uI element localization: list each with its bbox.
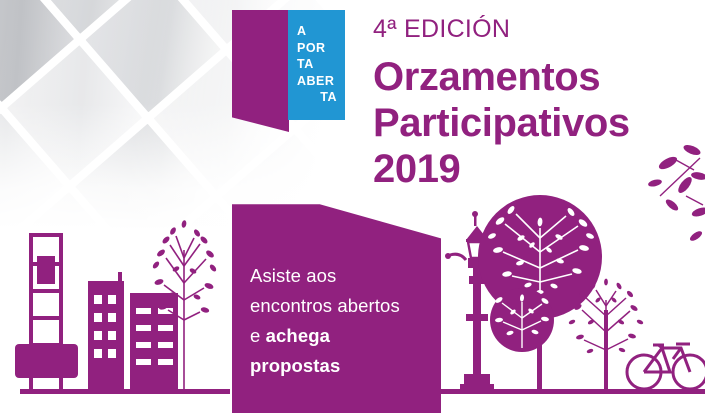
building-wide-icon: [130, 293, 178, 393]
floating-leaves-icon: [647, 143, 705, 243]
ground-line-left: [20, 389, 230, 394]
logo-line-2: POR: [297, 40, 338, 57]
round-tree-branches: [503, 214, 578, 300]
logo-line-1: A: [297, 23, 338, 40]
bush-leaves: [494, 294, 549, 336]
sapling-tree-icon: [568, 279, 644, 390]
cta-line-2: encontros abertos: [250, 291, 435, 321]
open-door-shape-icon: [232, 10, 289, 132]
logo-line-5: TA: [297, 89, 338, 106]
title-line-3: 2019: [373, 146, 630, 192]
building-tall-windows: [94, 295, 116, 358]
crane-icon: [15, 233, 78, 393]
floating-branch-lines: [660, 158, 703, 205]
title-line-2: Participativos: [373, 100, 630, 146]
title-line-1: Orzamentos: [373, 54, 630, 100]
round-tree-icon: [478, 195, 602, 390]
bare-tree-left-leaves: [152, 220, 218, 314]
headline-block: 4ª EDICIÓN Orzamentos Participativos 201…: [373, 14, 630, 192]
bush-branches: [502, 302, 542, 348]
building-wide-windows: [136, 308, 173, 365]
cta-line-4: propostas: [250, 351, 435, 381]
cta-line-3: e achega: [250, 321, 435, 351]
small-round-bush-icon: [490, 288, 554, 352]
logo-line-3: TA: [297, 56, 338, 73]
a-porta-aberta-logo[interactable]: A POR TA ABER TA: [232, 10, 345, 132]
bicycle-icon: [627, 344, 705, 389]
logo-line-4: ABER: [297, 73, 338, 90]
sapling-leaves: [568, 279, 644, 354]
page-title: Orzamentos Participativos 2019: [373, 54, 630, 192]
edition-label: 4ª EDICIÓN: [373, 14, 630, 44]
sapling-branches: [582, 290, 630, 390]
round-tree-leaves: [487, 205, 595, 294]
street-lamp-icon: [445, 211, 509, 392]
logo-wordmark: A POR TA ABER TA: [288, 10, 345, 120]
cta-line-1: Asiste aos: [250, 261, 435, 291]
ground-line-right: [441, 389, 705, 394]
cta-line-3-prefix: e: [250, 325, 266, 346]
bare-tree-left-branches: [164, 236, 206, 393]
cta-line-3-bold: achega: [266, 325, 330, 346]
building-tall-icon: [88, 272, 124, 393]
poster-canvas: A POR TA ABER TA 4ª EDICIÓN Orzamentos P…: [0, 0, 705, 413]
cta-line-4-bold: propostas: [250, 355, 340, 376]
cta-text: Asiste aos encontros abertos e achega pr…: [250, 261, 435, 381]
